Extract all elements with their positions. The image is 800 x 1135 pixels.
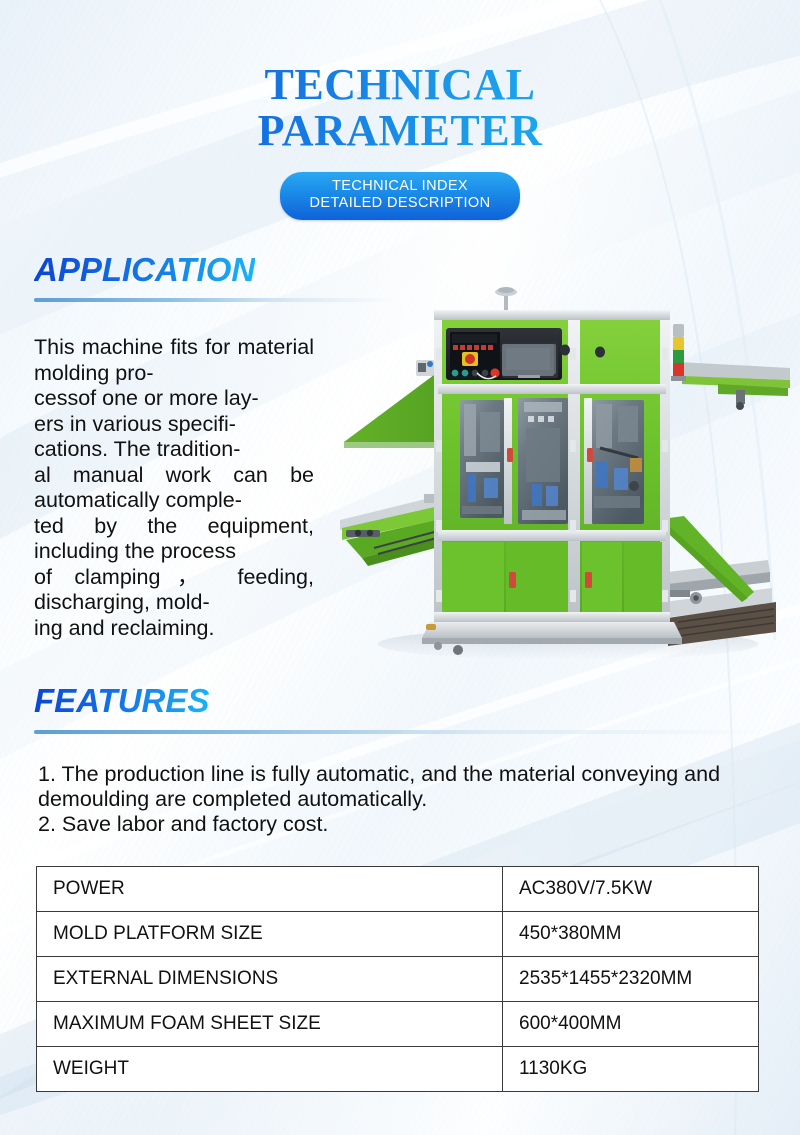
machine-main-cabinet: [422, 287, 682, 655]
machine-left-sensor: [416, 360, 434, 376]
subtitle-pill-line2: DETAILED DESCRIPTION: [310, 195, 491, 212]
machine-output-stacker: [654, 452, 776, 646]
page-root: TECHNICAL PARAMETER TECHNICAL INDEX DETA…: [0, 0, 800, 1135]
spec-label: POWER: [37, 867, 503, 912]
specification-table: POWER AC380V/7.5KW MOLD PLATFORM SIZE 45…: [36, 866, 759, 1092]
spec-label: EXTERNAL DIMENSIONS: [37, 957, 503, 1002]
spec-value: AC380V/7.5KW: [503, 867, 759, 912]
table-row: EXTERNAL DIMENSIONS 2535*1455*2320MM: [37, 957, 759, 1002]
page-title-line1: TECHNICAL: [0, 62, 800, 108]
subtitle-pill: TECHNICAL INDEX DETAILED DESCRIPTION: [280, 172, 521, 220]
table-row: WEIGHT 1130KG: [37, 1047, 759, 1092]
spec-value: 1130KG: [503, 1047, 759, 1092]
spec-label: WEIGHT: [37, 1047, 503, 1092]
section-heading-application: APPLICATION: [34, 251, 255, 289]
table-row: MAXIMUM FOAM SHEET SIZE 600*400MM: [37, 1002, 759, 1047]
spec-label: MAXIMUM FOAM SHEET SIZE: [37, 1002, 503, 1047]
section-divider-features: [34, 730, 769, 734]
specification-table-body: POWER AC380V/7.5KW MOLD PLATFORM SIZE 45…: [37, 867, 759, 1092]
machine-discharge-arm: [678, 362, 790, 410]
spec-value: 600*400MM: [503, 1002, 759, 1047]
machine-feed-chute: [344, 372, 438, 448]
table-row: POWER AC380V/7.5KW: [37, 867, 759, 912]
machine-signal-tower: [671, 324, 686, 381]
spec-value: 450*380MM: [503, 912, 759, 957]
application-body-text: This machine fits for material molding p…: [34, 335, 314, 641]
page-header: TECHNICAL PARAMETER TECHNICAL INDEX DETA…: [0, 0, 800, 220]
page-title-line2: PARAMETER: [0, 108, 800, 154]
subtitle-pill-line1: TECHNICAL INDEX: [310, 178, 491, 195]
spec-label: MOLD PLATFORM SIZE: [37, 912, 503, 957]
table-row: MOLD PLATFORM SIZE 450*380MM: [37, 912, 759, 957]
machine-photo: [338, 272, 790, 672]
features-body-text: 1. The production line is fully automati…: [38, 762, 768, 837]
section-heading-features: FEATURES: [34, 682, 209, 720]
spec-value: 2535*1455*2320MM: [503, 957, 759, 1002]
